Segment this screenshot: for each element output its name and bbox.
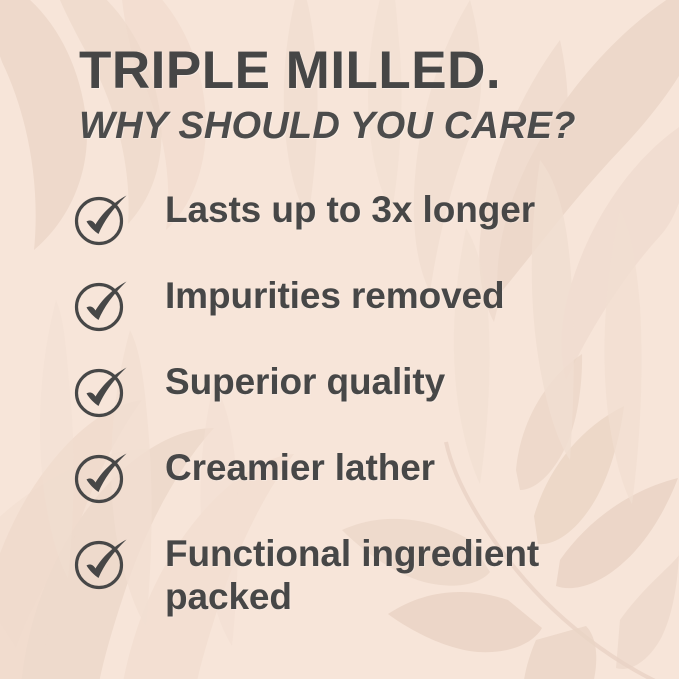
list-item-label: Functional ingredient packed bbox=[165, 532, 635, 619]
list-item: Superior quality bbox=[0, 362, 679, 448]
circle-check-icon bbox=[73, 190, 135, 248]
benefits-list: Lasts up to 3x longer Impurities removed… bbox=[0, 190, 679, 620]
list-item-label: Impurities removed bbox=[165, 274, 635, 317]
page-title: TRIPLE MILLED. bbox=[79, 44, 639, 98]
list-item-label: Creamier lather bbox=[165, 446, 635, 489]
page-subtitle: WHY SHOULD YOU CARE? bbox=[79, 107, 639, 147]
content-layer: TRIPLE MILLED. WHY SHOULD YOU CARE? Last… bbox=[0, 0, 679, 679]
circle-check-icon bbox=[73, 362, 135, 420]
list-item: Functional ingredient packed bbox=[0, 534, 679, 620]
headline-block: TRIPLE MILLED. WHY SHOULD YOU CARE? bbox=[79, 44, 639, 147]
circle-check-icon bbox=[73, 534, 135, 592]
list-item-label: Lasts up to 3x longer bbox=[165, 188, 635, 231]
circle-check-icon bbox=[73, 448, 135, 506]
list-item: Impurities removed bbox=[0, 276, 679, 362]
infographic-canvas: TRIPLE MILLED. WHY SHOULD YOU CARE? Last… bbox=[0, 0, 679, 679]
list-item: Lasts up to 3x longer bbox=[0, 190, 679, 276]
list-item-label: Superior quality bbox=[165, 360, 635, 403]
circle-check-icon bbox=[73, 276, 135, 334]
list-item: Creamier lather bbox=[0, 448, 679, 534]
